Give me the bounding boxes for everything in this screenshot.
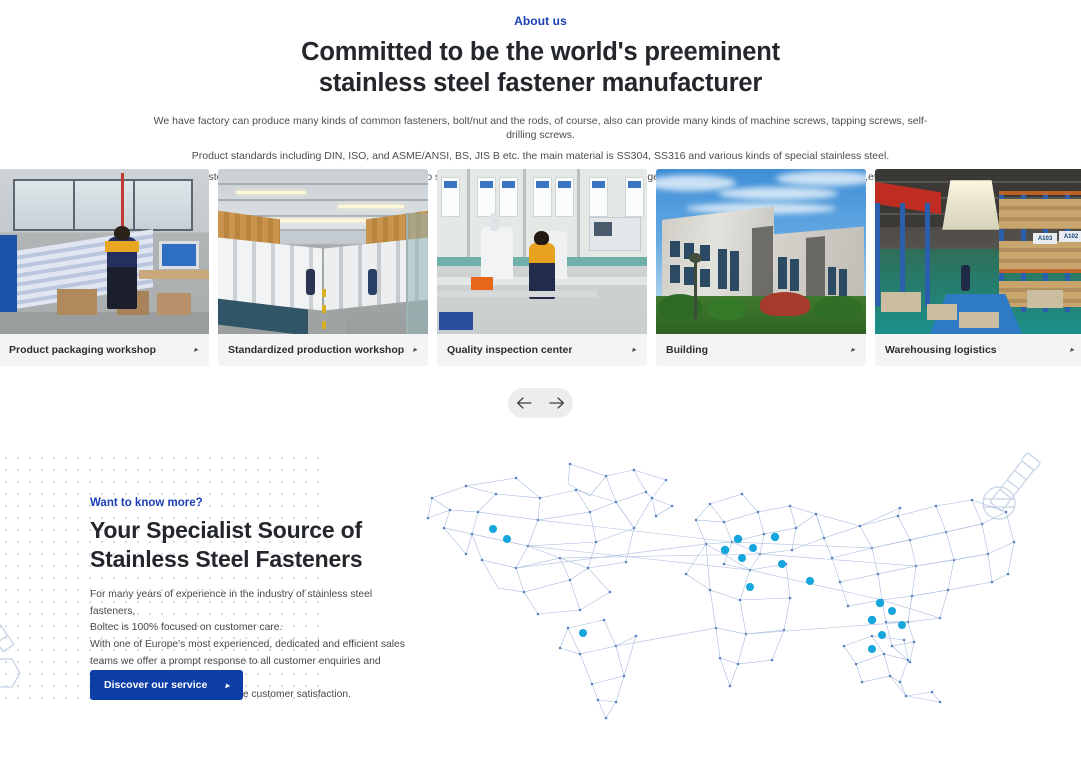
- facility-card-caption[interactable]: Quality inspection center ▸: [437, 334, 647, 366]
- carousel-prev-button[interactable]: [512, 391, 536, 415]
- packaging-workshop-photo: [0, 169, 209, 334]
- facility-card[interactable]: Quality inspection center ▸: [437, 169, 647, 366]
- headline-line-1: Committed to be the world's preeminent: [301, 38, 780, 66]
- map-mesh-nodes: [427, 463, 1016, 720]
- facility-card[interactable]: Building ▸: [656, 169, 866, 366]
- map-highlight-dots: [489, 525, 906, 653]
- facility-card-caption[interactable]: Standardized production workshop ▸: [218, 334, 428, 366]
- world-network-map: [420, 452, 1040, 720]
- promo-title-line-2: Stainless Steel Fasteners: [90, 545, 410, 574]
- arrow-right-icon: [549, 397, 565, 409]
- facility-card-caption[interactable]: Building ▸: [656, 334, 866, 366]
- warehouse-photo: A102 A103: [875, 169, 1081, 334]
- promo-section: Want to know more? Your Specialist Sourc…: [0, 452, 1081, 757]
- chevron-right-icon: ▸: [845, 346, 855, 354]
- promo-body-line-1: For many years of experience in the indu…: [90, 589, 372, 617]
- chevron-right-icon: ▸: [225, 681, 229, 690]
- rack-label-a103: A103: [1033, 233, 1057, 244]
- chevron-right-icon: ▸: [1064, 346, 1074, 354]
- map-connection-lines: [516, 520, 988, 646]
- intro-line-1: We have factory can produce many kinds o…: [146, 114, 936, 142]
- promo-body-line-3: With one of Europe's most experienced, d…: [90, 639, 405, 650]
- facility-card[interactable]: A102 A103 Warehousing logistics ▸: [875, 169, 1081, 366]
- facility-card-caption[interactable]: Warehousing logistics ▸: [875, 334, 1081, 366]
- intro-line-2: Product standards including DIN, ISO, an…: [146, 149, 936, 163]
- map-mesh-lines: [428, 464, 1014, 718]
- promo-eyebrow: Want to know more?: [90, 497, 410, 509]
- chevron-right-icon: ▸: [407, 346, 417, 354]
- promo-title: Your Specialist Source of Stainless Stee…: [90, 516, 410, 573]
- production-workshop-photo: [218, 169, 428, 334]
- facility-card[interactable]: Standardized production workshop ▸: [218, 169, 428, 366]
- arrow-left-icon: [516, 397, 532, 409]
- chevron-right-icon: ▸: [188, 346, 198, 354]
- card-caption-label: Product packaging workshop: [9, 344, 156, 356]
- carousel-nav-pill: [508, 388, 573, 418]
- facility-card-caption[interactable]: Product packaging workshop ▸: [0, 334, 209, 366]
- facility-card[interactable]: Product packaging workshop ▸: [0, 169, 209, 366]
- carousel-next-button[interactable]: [545, 391, 569, 415]
- facility-card-carousel: Product packaging workshop ▸ Standardize…: [0, 169, 1081, 366]
- card-caption-label: Warehousing logistics: [885, 344, 997, 356]
- discover-button-label: Discover our service: [104, 679, 207, 691]
- promo-body-line-2: Boltec is 100% focused on customer care.: [90, 622, 282, 633]
- building-photo: [656, 169, 866, 334]
- carousel-nav: [0, 388, 1081, 418]
- promo-title-line-1: Your Specialist Source of: [90, 517, 362, 543]
- quality-inspection-photo: [437, 169, 647, 334]
- card-caption-label: Quality inspection center: [447, 344, 572, 356]
- discover-our-service-button[interactable]: Discover our service ▸: [90, 670, 243, 700]
- card-caption-label: Standardized production workshop: [228, 344, 404, 356]
- chevron-right-icon: ▸: [626, 346, 636, 354]
- section-eyebrow: About us: [0, 14, 1081, 28]
- rack-label-a102: A102: [1059, 231, 1081, 242]
- world-map-svg: [420, 452, 1040, 720]
- page-title: Committed to be the world's preeminent s…: [0, 37, 1081, 100]
- bolt-nut-decoration-icon: [0, 607, 30, 707]
- card-caption-label: Building: [666, 344, 708, 356]
- headline-line-2: stainless steel fastener manufacturer: [0, 68, 1081, 99]
